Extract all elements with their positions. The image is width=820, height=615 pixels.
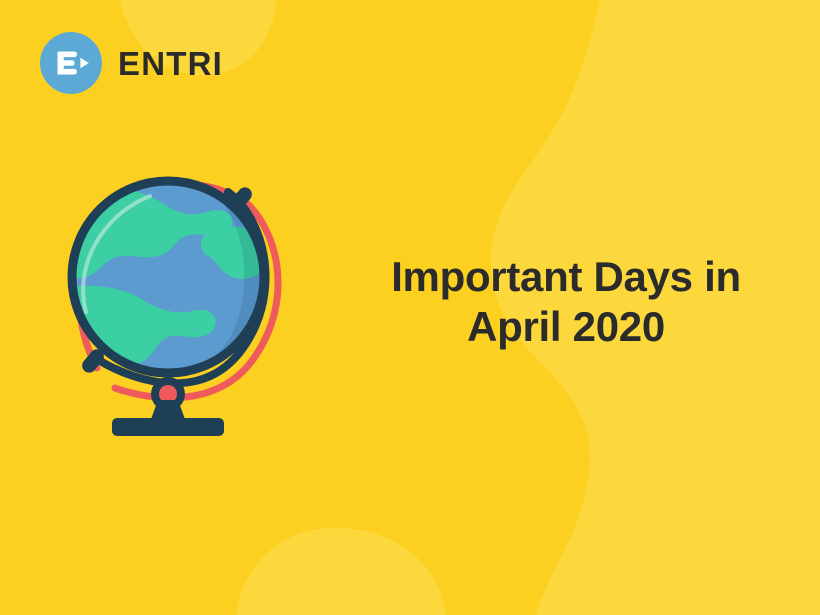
globe-icon: [58, 172, 308, 440]
page-title-line-2: April 2020: [380, 302, 752, 352]
page-title-line-1: Important Days in: [380, 252, 752, 302]
wave-shape-bottom-left: [236, 528, 446, 615]
page-title: Important Days in April 2020: [380, 252, 752, 352]
logo-letter-e: [58, 52, 77, 75]
brand-wordmark: ENTRI: [118, 47, 223, 80]
brand-logo[interactable]: ENTRI: [40, 32, 223, 94]
banner: ENTRI: [0, 0, 820, 615]
globe-stand-base: [112, 418, 224, 436]
entri-e-play-icon: [40, 32, 102, 94]
